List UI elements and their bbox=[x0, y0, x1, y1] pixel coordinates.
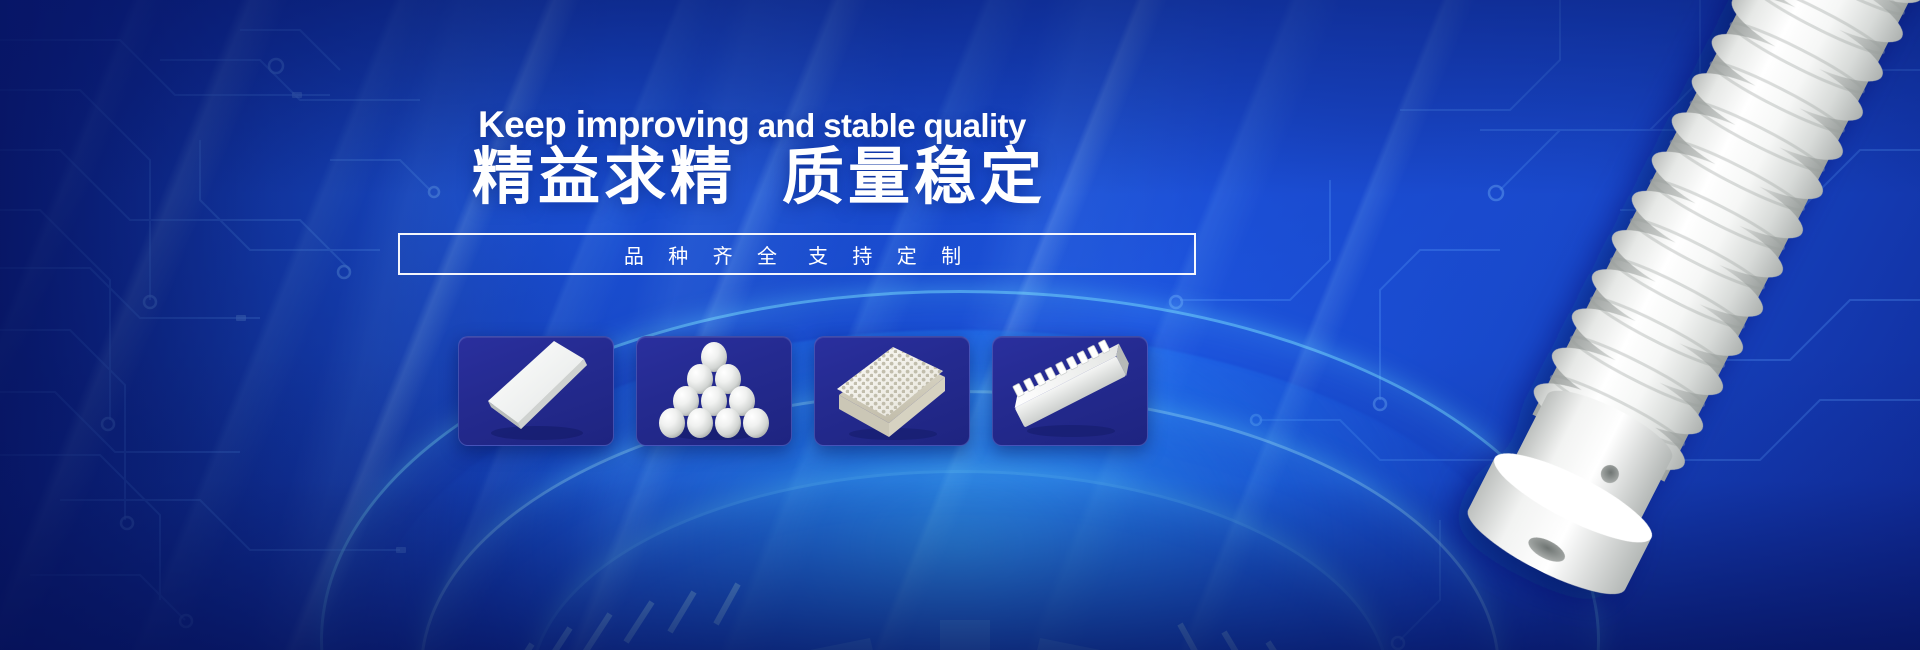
product-thumbnail-row bbox=[458, 336, 1148, 446]
honeycomb-ceramic-icon bbox=[817, 337, 967, 445]
product-card-ceramic-balls[interactable] bbox=[636, 336, 792, 446]
product-card-ridged-ceramic-bar[interactable] bbox=[992, 336, 1148, 446]
ridged-ceramic-bar-icon bbox=[995, 337, 1145, 445]
product-card-honeycomb-ceramic[interactable] bbox=[814, 336, 970, 446]
subtitle-text: 品 种 齐 全支 持 定 制 bbox=[624, 240, 970, 269]
subtitle-left: 品 种 齐 全 bbox=[624, 244, 786, 268]
ceramic-balls-icon bbox=[639, 337, 789, 445]
headline-left: 精益求精 bbox=[472, 140, 736, 213]
subtitle-right: 支 持 定 制 bbox=[808, 244, 970, 268]
product-card-ceramic-plate[interactable] bbox=[458, 336, 614, 446]
hero-product-corrugated-bellows bbox=[1400, 0, 1920, 650]
headline-right: 质量稳定 bbox=[782, 140, 1046, 213]
subtitle-box: 品 种 齐 全支 持 定 制 bbox=[398, 233, 1196, 275]
page-title: 精益求精质量稳定 bbox=[472, 146, 1046, 208]
banner-content: Keep improving and stable quality 精益求精质量… bbox=[0, 0, 1260, 650]
ceramic-plate-icon bbox=[461, 337, 611, 445]
english-tagline-light: and stable quality bbox=[749, 107, 1026, 144]
product-banner: Keep improving and stable quality 精益求精质量… bbox=[0, 0, 1920, 650]
english-tagline-strong: Keep improving bbox=[478, 104, 749, 145]
